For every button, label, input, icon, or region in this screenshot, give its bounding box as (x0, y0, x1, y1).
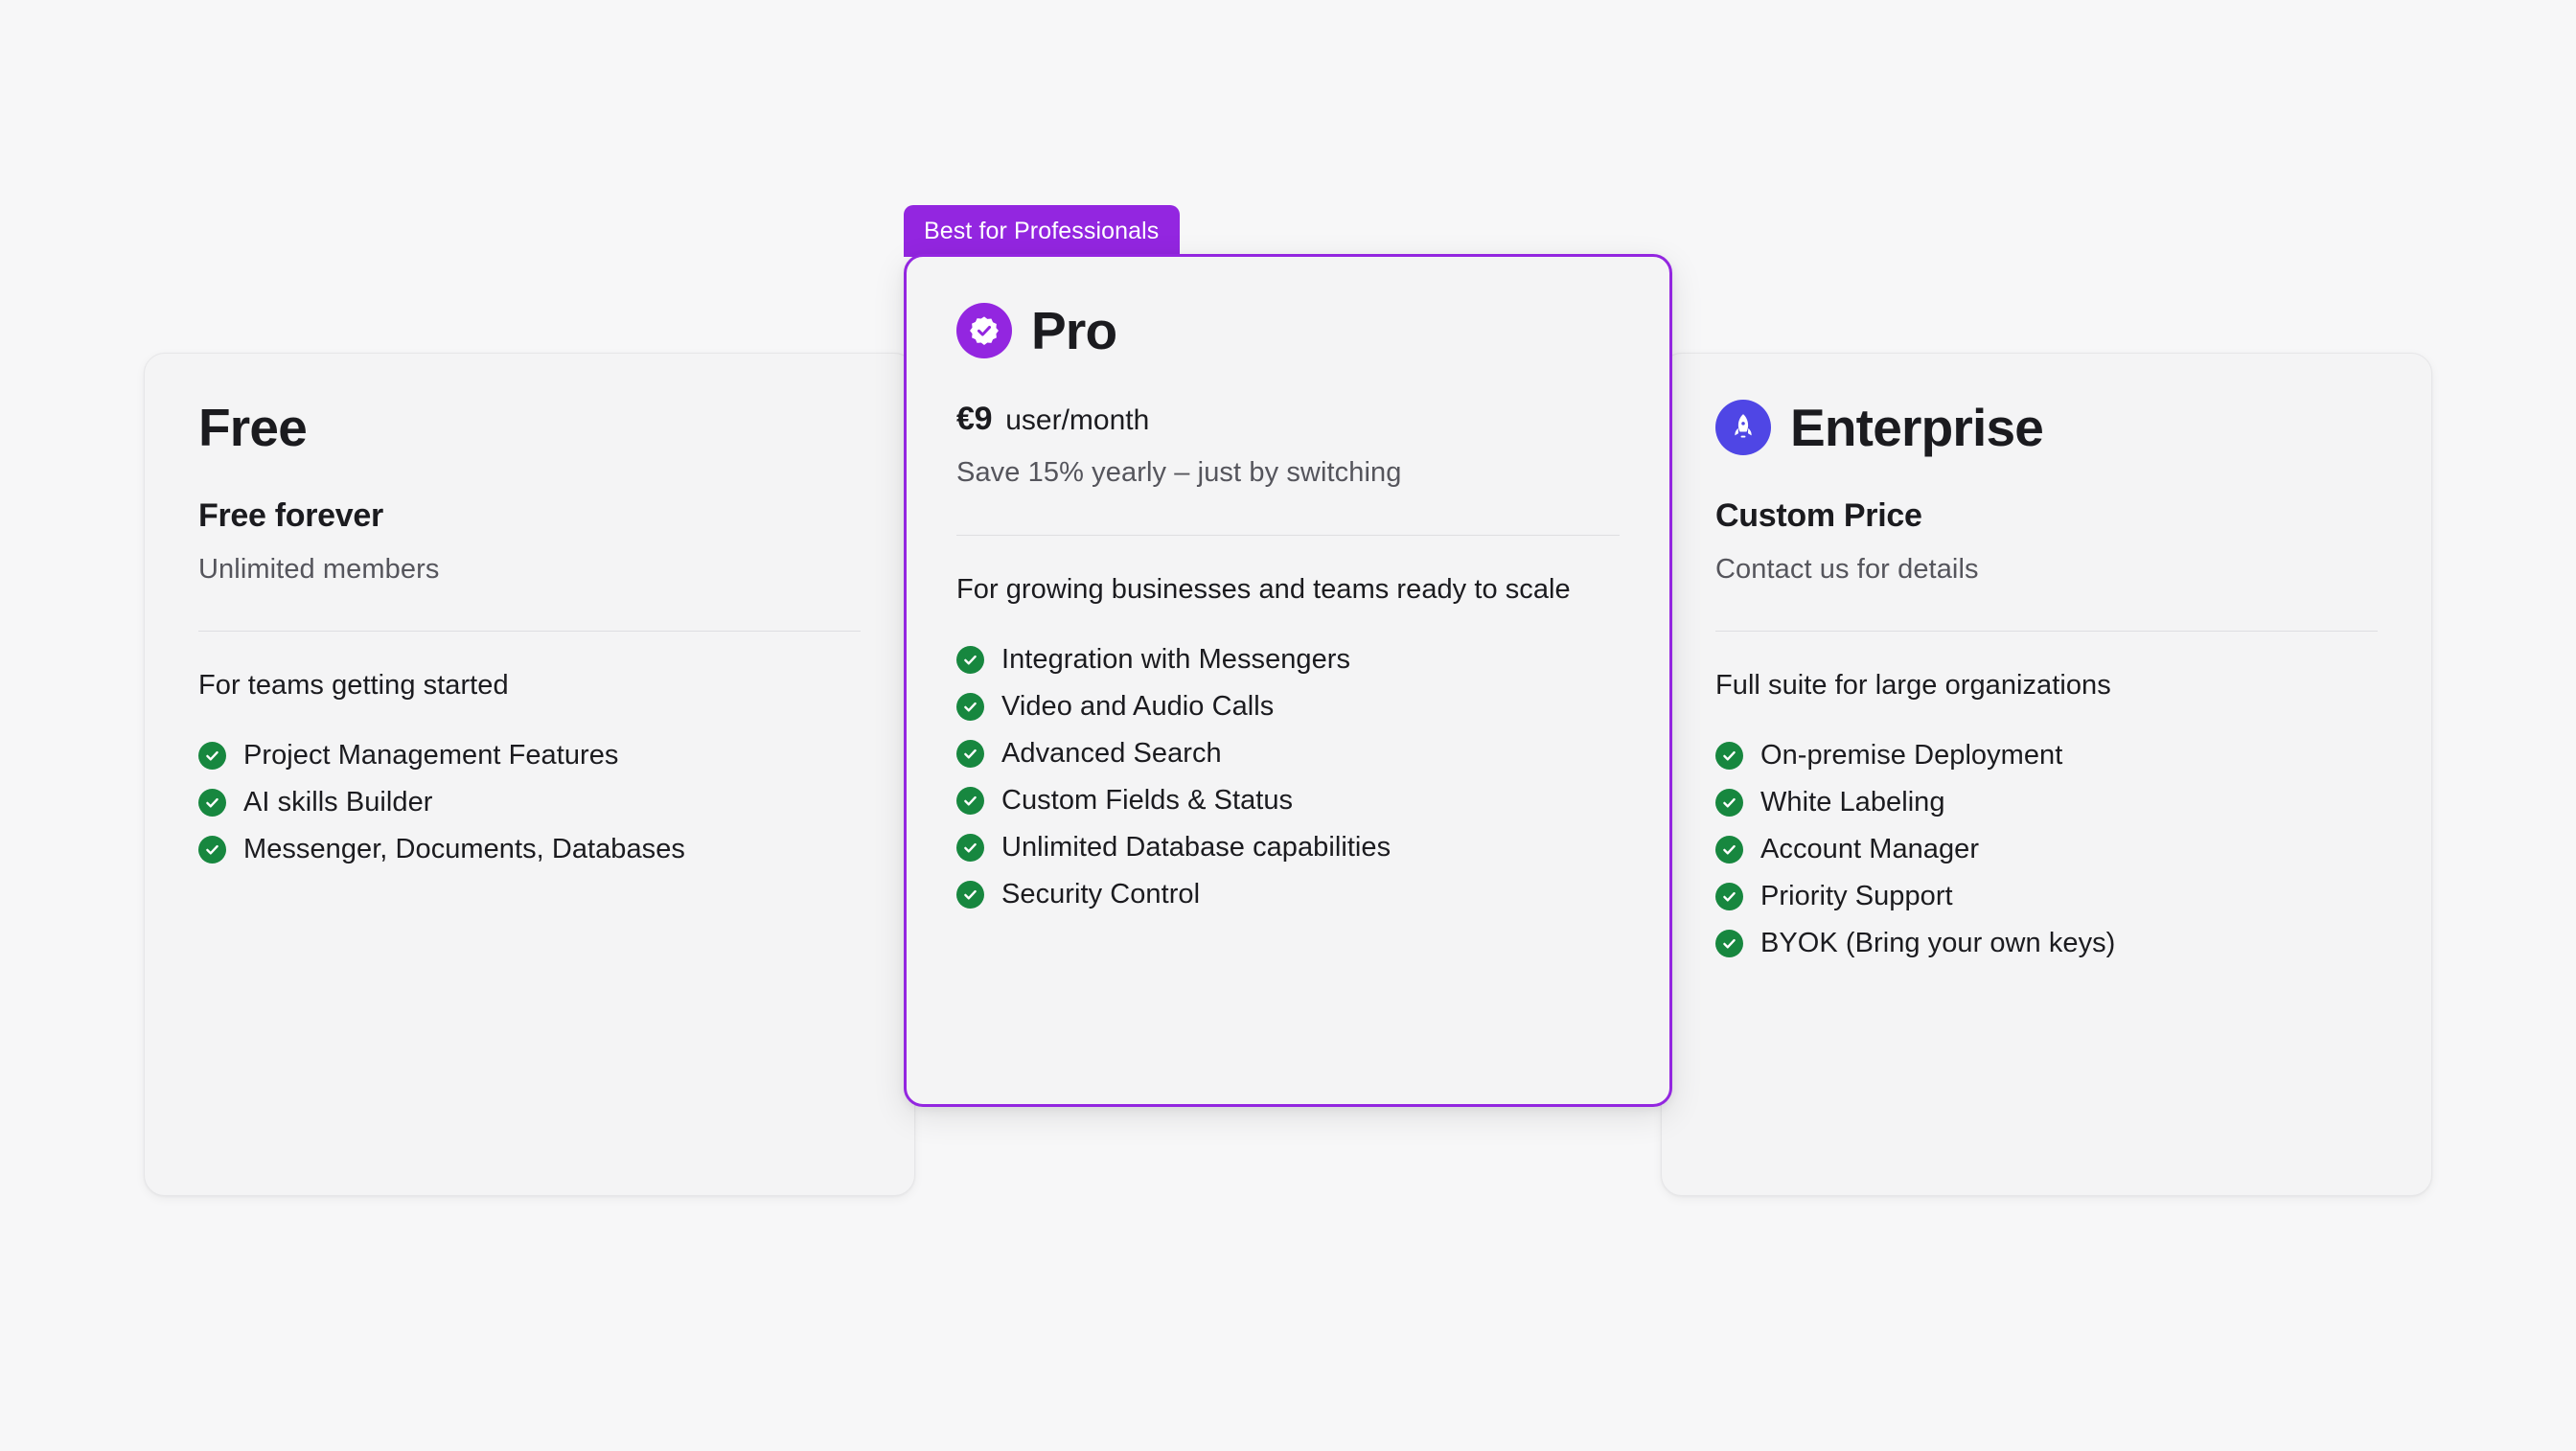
plan-header-enterprise: Enterprise Custom Price Contact us for d… (1662, 354, 2431, 632)
check-circle-icon (956, 787, 984, 815)
check-circle-icon (1715, 883, 1743, 910)
check-circle-icon (1715, 789, 1743, 817)
feature-list-pro: Integration with Messengers Video and Au… (956, 636, 1620, 918)
feature-label: Account Manager (1760, 834, 1979, 865)
feature-label: Priority Support (1760, 881, 1953, 912)
plan-price-note-free: Unlimited members (198, 554, 861, 586)
plan-header-pro: Pro €9 user/month Save 15% yearly – just… (907, 257, 1669, 536)
plan-header-free: Free Free forever Unlimited members (145, 354, 914, 632)
plan-price-pro: €9 (956, 401, 992, 438)
plan-price-free: Free forever (198, 497, 383, 535)
feature-item: Messenger, Documents, Databases (198, 826, 861, 873)
plan-price-row-pro: €9 user/month (956, 401, 1620, 438)
check-circle-icon (956, 881, 984, 909)
plan-name-pro: Pro (1031, 305, 1116, 357)
check-circle-icon (198, 742, 226, 770)
feature-item: On-premise Deployment (1715, 732, 2378, 779)
plan-body-enterprise: Full suite for large organizations On-pr… (1662, 632, 2431, 967)
feature-label: Messenger, Documents, Databases (243, 834, 685, 865)
check-circle-icon (198, 836, 226, 864)
verified-badge-icon (956, 303, 1012, 358)
plan-title-row-pro: Pro (956, 299, 1620, 362)
plan-body-heading-enterprise: Full suite for large organizations (1715, 670, 2378, 702)
feature-label: AI skills Builder (243, 787, 432, 818)
feature-label: Integration with Messengers (1001, 644, 1350, 676)
feature-label: Advanced Search (1001, 738, 1222, 770)
feature-label: White Labeling (1760, 787, 1945, 818)
check-circle-icon (1715, 930, 1743, 957)
feature-item: Advanced Search (956, 730, 1620, 777)
plan-name-free: Free (198, 402, 307, 454)
plan-body-free: For teams getting started Project Manage… (145, 632, 914, 873)
feature-label: Video and Audio Calls (1001, 691, 1274, 723)
plan-title-row-free: Free (198, 396, 861, 459)
feature-item: Account Manager (1715, 826, 2378, 873)
check-circle-icon (198, 789, 226, 817)
check-circle-icon (1715, 836, 1743, 864)
plan-price-enterprise: Custom Price (1715, 497, 1922, 535)
feature-label: Project Management Features (243, 740, 618, 772)
feature-item: Integration with Messengers (956, 636, 1620, 683)
plan-price-note-enterprise: Contact us for details (1715, 554, 2378, 586)
check-circle-icon (956, 834, 984, 862)
plan-card-enterprise[interactable]: Enterprise Custom Price Contact us for d… (1661, 353, 2432, 1196)
feature-item: White Labeling (1715, 779, 2378, 826)
plan-card-free[interactable]: Free Free forever Unlimited members For … (144, 353, 915, 1196)
pricing-plans-stage: Free Free forever Unlimited members For … (0, 0, 2576, 1451)
feature-list-free: Project Management Features AI skills Bu… (198, 732, 861, 873)
plan-price-unit-pro: user/month (1005, 404, 1149, 437)
plan-title-row-enterprise: Enterprise (1715, 396, 2378, 459)
feature-item: BYOK (Bring your own keys) (1715, 920, 2378, 967)
badge-label: Best for Professionals (924, 219, 1159, 243)
feature-item: AI skills Builder (198, 779, 861, 826)
plan-body-pro: For growing businesses and teams ready t… (907, 536, 1669, 918)
feature-label: BYOK (Bring your own keys) (1760, 928, 2115, 959)
check-circle-icon (956, 693, 984, 721)
plan-body-heading-pro: For growing businesses and teams ready t… (956, 574, 1620, 606)
feature-label: Custom Fields & Status (1001, 785, 1293, 817)
feature-item: Custom Fields & Status (956, 777, 1620, 824)
plan-price-row-enterprise: Custom Price (1715, 497, 2378, 535)
feature-label: On-premise Deployment (1760, 740, 2062, 772)
feature-item: Priority Support (1715, 873, 2378, 920)
plan-body-heading-free: For teams getting started (198, 670, 861, 702)
feature-label: Unlimited Database capabilities (1001, 832, 1391, 864)
check-circle-icon (956, 646, 984, 674)
plan-card-pro[interactable]: Pro €9 user/month Save 15% yearly – just… (904, 254, 1672, 1107)
feature-item: Project Management Features (198, 732, 861, 779)
feature-item: Unlimited Database capabilities (956, 824, 1620, 871)
best-for-professionals-badge: Best for Professionals (904, 205, 1180, 257)
feature-item: Video and Audio Calls (956, 683, 1620, 730)
rocket-icon (1715, 400, 1771, 455)
feature-list-enterprise: On-premise Deployment White Labeling Acc… (1715, 732, 2378, 967)
plan-price-row-free: Free forever (198, 497, 861, 535)
check-circle-icon (956, 740, 984, 768)
plan-price-note-pro: Save 15% yearly – just by switching (956, 457, 1620, 489)
feature-item: Security Control (956, 871, 1620, 918)
check-circle-icon (1715, 742, 1743, 770)
plan-name-enterprise: Enterprise (1790, 402, 2043, 454)
feature-label: Security Control (1001, 879, 1200, 910)
